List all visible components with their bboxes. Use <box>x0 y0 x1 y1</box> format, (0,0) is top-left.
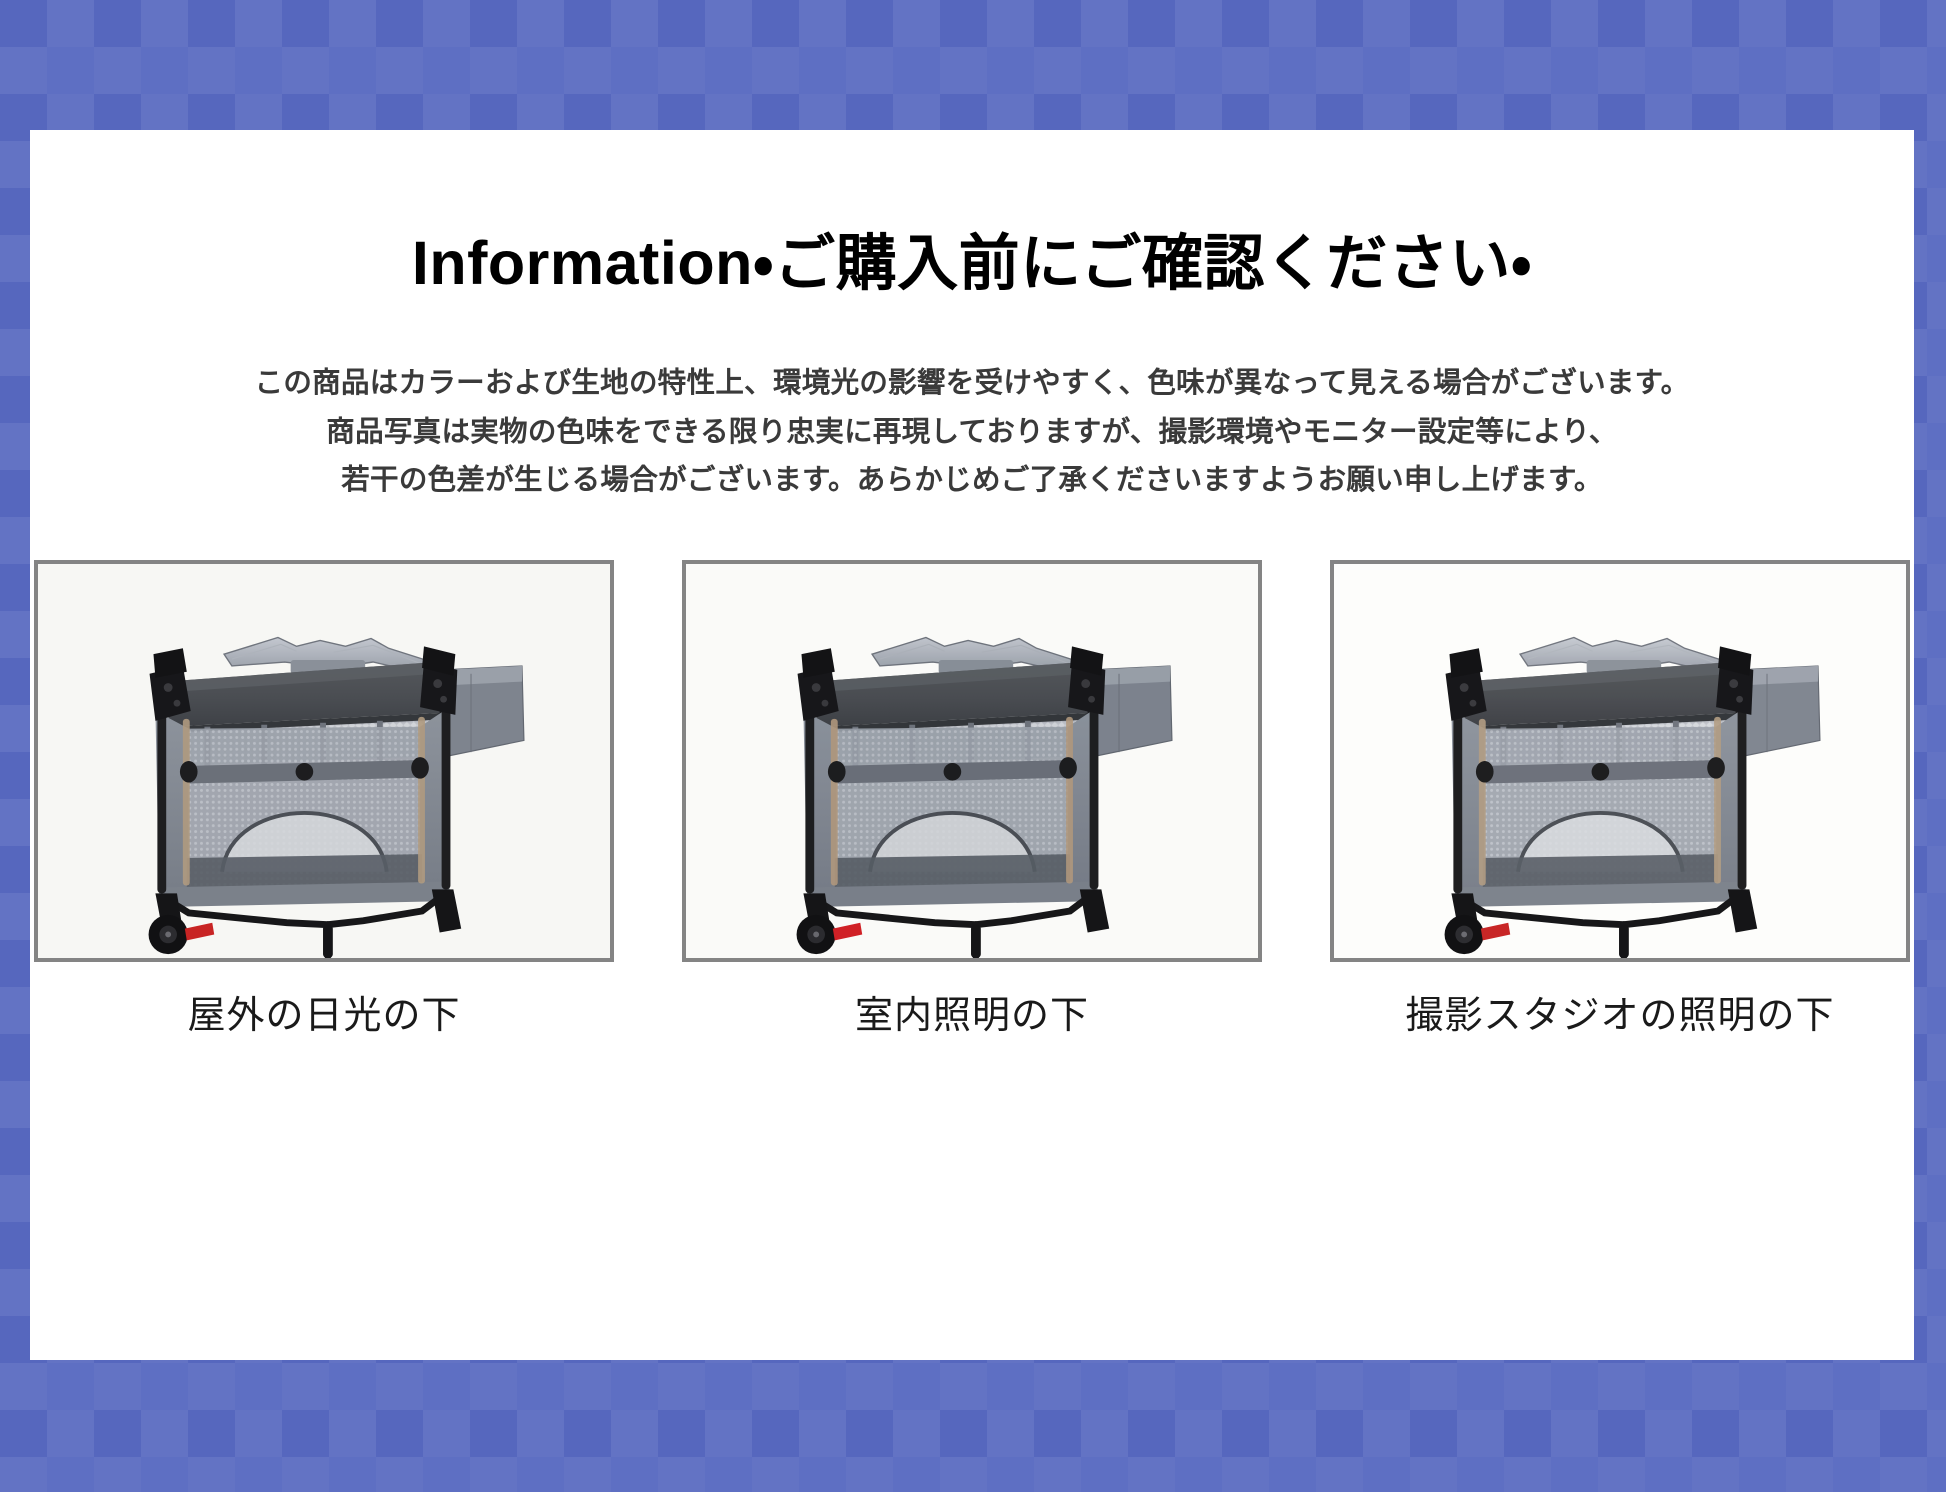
photo-caption-indoor: 室内照明の下 <box>855 984 1089 1039</box>
product-photo-studio <box>1330 560 1910 962</box>
color-disclaimer-text: この商品はカラーおよび生地の特性上、環境光の影響を受けやすく、色味が異なって見え… <box>30 359 1914 505</box>
page-title: Information・ご購入前にご確認ください・ <box>30 230 1914 297</box>
photo-caption-outdoor: 屋外の日光の下 <box>187 984 460 1039</box>
photo-caption-studio: 撮影スタジオの照明の下 <box>1405 984 1834 1039</box>
photo-cell-studio: 撮影スタジオの照明の下 <box>1330 560 1910 1039</box>
playard-illustration-indoor <box>686 564 1258 958</box>
product-photo-indoor <box>682 560 1262 962</box>
product-photo-outdoor <box>34 560 614 962</box>
information-card: Information・ご購入前にご確認ください・ この商品はカラーおよび生地の… <box>30 130 1914 1360</box>
playard-illustration-studio <box>1334 564 1906 958</box>
lighting-comparison-gallery: 屋外の日光の下 室内照明の下 撮影スタジオの照明の下 <box>30 560 1914 1039</box>
notice-line-2: 商品写真は実物の色味をできる限り忠実に再現しておりますが、撮影環境やモニター設定… <box>30 408 1914 457</box>
photo-cell-indoor: 室内照明の下 <box>682 560 1262 1039</box>
playard-illustration-outdoor <box>38 564 610 958</box>
notice-line-1: この商品はカラーおよび生地の特性上、環境光の影響を受けやすく、色味が異なって見え… <box>30 359 1914 408</box>
photo-cell-outdoor: 屋外の日光の下 <box>34 560 614 1039</box>
notice-line-3: 若干の色差が生じる場合がございます。あらかじめご了承くださいますようお願い申し上… <box>30 456 1914 505</box>
